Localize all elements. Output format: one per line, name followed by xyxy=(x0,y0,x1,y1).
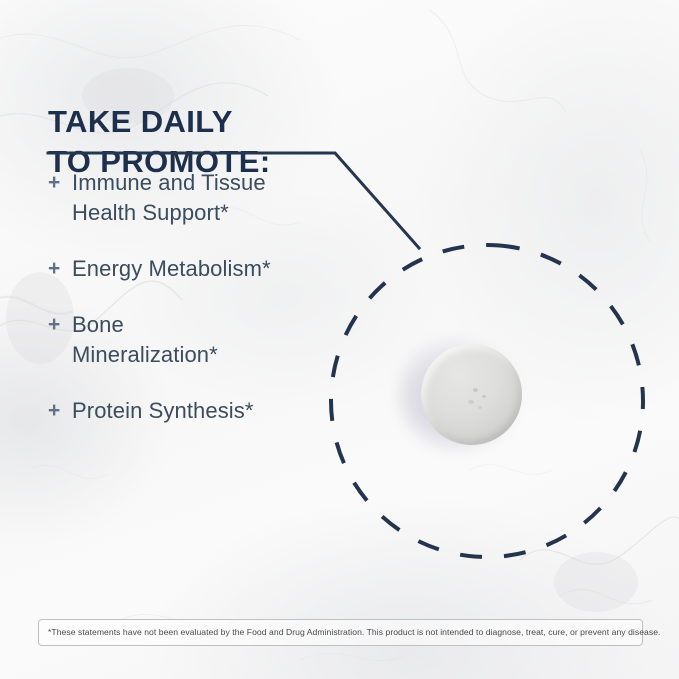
list-item: + Energy Metabolism* xyxy=(48,254,348,284)
list-item-label: Protein Synthesis* xyxy=(72,396,254,426)
tablet-image xyxy=(421,344,522,445)
benefits-list: + Immune and Tissue Health Support* + En… xyxy=(48,168,348,452)
tablet-speck xyxy=(473,388,478,392)
list-item: + Protein Synthesis* xyxy=(48,396,348,426)
product-benefits-infographic: TAKE DAILY TO PROMOTE: + Immune and Tiss… xyxy=(0,0,679,679)
list-item: + Bone Mineralization* xyxy=(48,310,348,370)
plus-icon: + xyxy=(48,396,72,426)
list-item-label: Bone Mineralization* xyxy=(72,310,218,370)
headline-line-1: TAKE DAILY xyxy=(48,104,233,139)
plus-icon: + xyxy=(48,168,72,198)
plus-icon: + xyxy=(48,254,72,284)
tablet-speck xyxy=(468,400,474,404)
tablet-speck xyxy=(478,406,482,409)
list-item-label: Energy Metabolism* xyxy=(72,254,271,284)
plus-icon: + xyxy=(48,310,72,340)
disclaimer-text: *These statements have not been evaluate… xyxy=(39,627,670,638)
list-item: + Immune and Tissue Health Support* xyxy=(48,168,348,228)
list-item-label: Immune and Tissue Health Support* xyxy=(72,168,266,228)
disclaimer-box: *These statements have not been evaluate… xyxy=(38,619,643,646)
tablet-speck xyxy=(482,395,486,398)
